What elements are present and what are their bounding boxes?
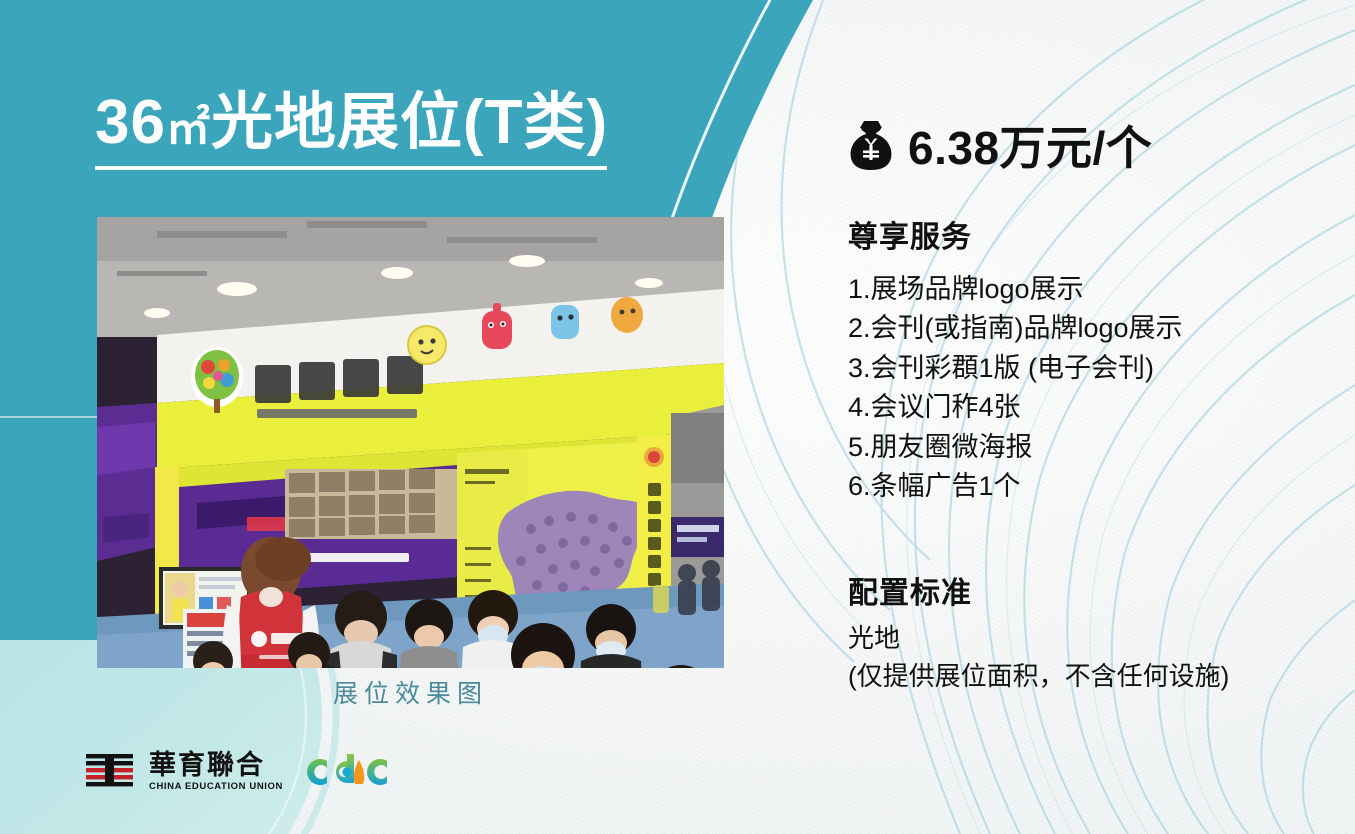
details-panel: 6.38万元/个 尊享服务 1.展场品牌logo展示 2.会刊(或指南)品牌lo… xyxy=(848,0,1318,834)
slide-root: 36㎡光地展位(T类) xyxy=(0,0,1355,834)
cdc-logo-icon xyxy=(303,752,389,792)
price-value: 6.38万元/个 xyxy=(908,112,1152,178)
service-item: 6.条幅广告1个 xyxy=(848,467,1288,506)
brand-name-en: CHINA EDUCATION UNION xyxy=(149,782,283,792)
configuration-section: 配置标准 光地 (仅提供展位面积，不含任何设施) xyxy=(848,568,1298,695)
title-area-unit: ㎡ xyxy=(166,104,211,153)
booth-photo xyxy=(97,217,724,668)
page-title-block: 36㎡光地展位(T类) xyxy=(95,92,755,170)
page-title: 36㎡光地展位(T类) xyxy=(95,92,755,154)
booth-photo-illustration xyxy=(97,217,724,668)
brand-text-block: 華育聯合 CHINA EDUCATION UNION xyxy=(149,752,283,792)
service-item: 5.朋友圈微海报 xyxy=(848,428,1288,467)
footer-logos: 華育聯合 CHINA EDUCATION UNION xyxy=(85,752,389,792)
services-section: 尊享服务 1.展场品牌logo展示 2.会刊(或指南)品牌logo展示 3.会刊… xyxy=(848,212,1288,506)
service-item: 1.展场品牌logo展示 xyxy=(848,270,1288,309)
china-education-union-mark-icon xyxy=(85,752,135,792)
photo-caption: 展位效果图 xyxy=(97,674,724,710)
configuration-line-1: 光地 xyxy=(848,620,1298,656)
services-list: 1.展场品牌logo展示 2.会刊(或指南)品牌logo展示 3.会刊彩頵1版 … xyxy=(848,270,1288,506)
price-row: 6.38万元/个 xyxy=(848,112,1152,178)
configuration-line-2: (仅提供展位面积，不含任何设施) xyxy=(848,658,1298,694)
title-underline xyxy=(95,166,607,170)
services-heading: 尊享服务 xyxy=(848,212,1288,256)
service-item: 4.会议门秨4张 xyxy=(848,388,1288,427)
brand-name-cn: 華育聯合 xyxy=(149,752,283,779)
service-item: 2.会刊(或指南)品牌logo展示 xyxy=(848,309,1288,348)
title-area-number: 36 xyxy=(95,88,166,157)
service-item: 3.会刊彩頵1版 (电子会刊) xyxy=(848,349,1288,388)
title-rest-text: 光地展位(T类) xyxy=(211,88,608,157)
configuration-heading: 配置标准 xyxy=(848,568,1298,612)
money-bag-icon xyxy=(848,119,894,171)
